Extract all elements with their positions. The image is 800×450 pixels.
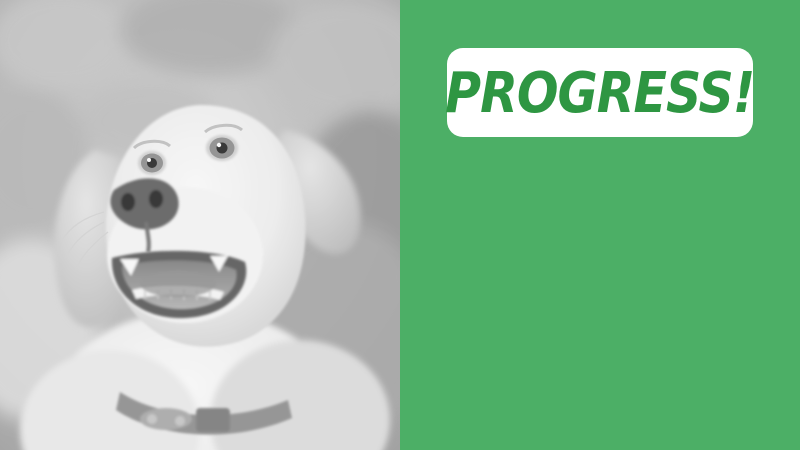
title-card: PROGRESS! — [447, 48, 753, 137]
content-panel: PROGRESS! Cutting FDA Red Tape — [400, 0, 800, 450]
dog-photo-image — [0, 0, 400, 450]
page-title: PROGRESS! — [445, 65, 754, 121]
progress-poster: PROGRESS! Cutting FDA Red Tape — [0, 0, 800, 450]
dog-photo — [0, 0, 400, 450]
